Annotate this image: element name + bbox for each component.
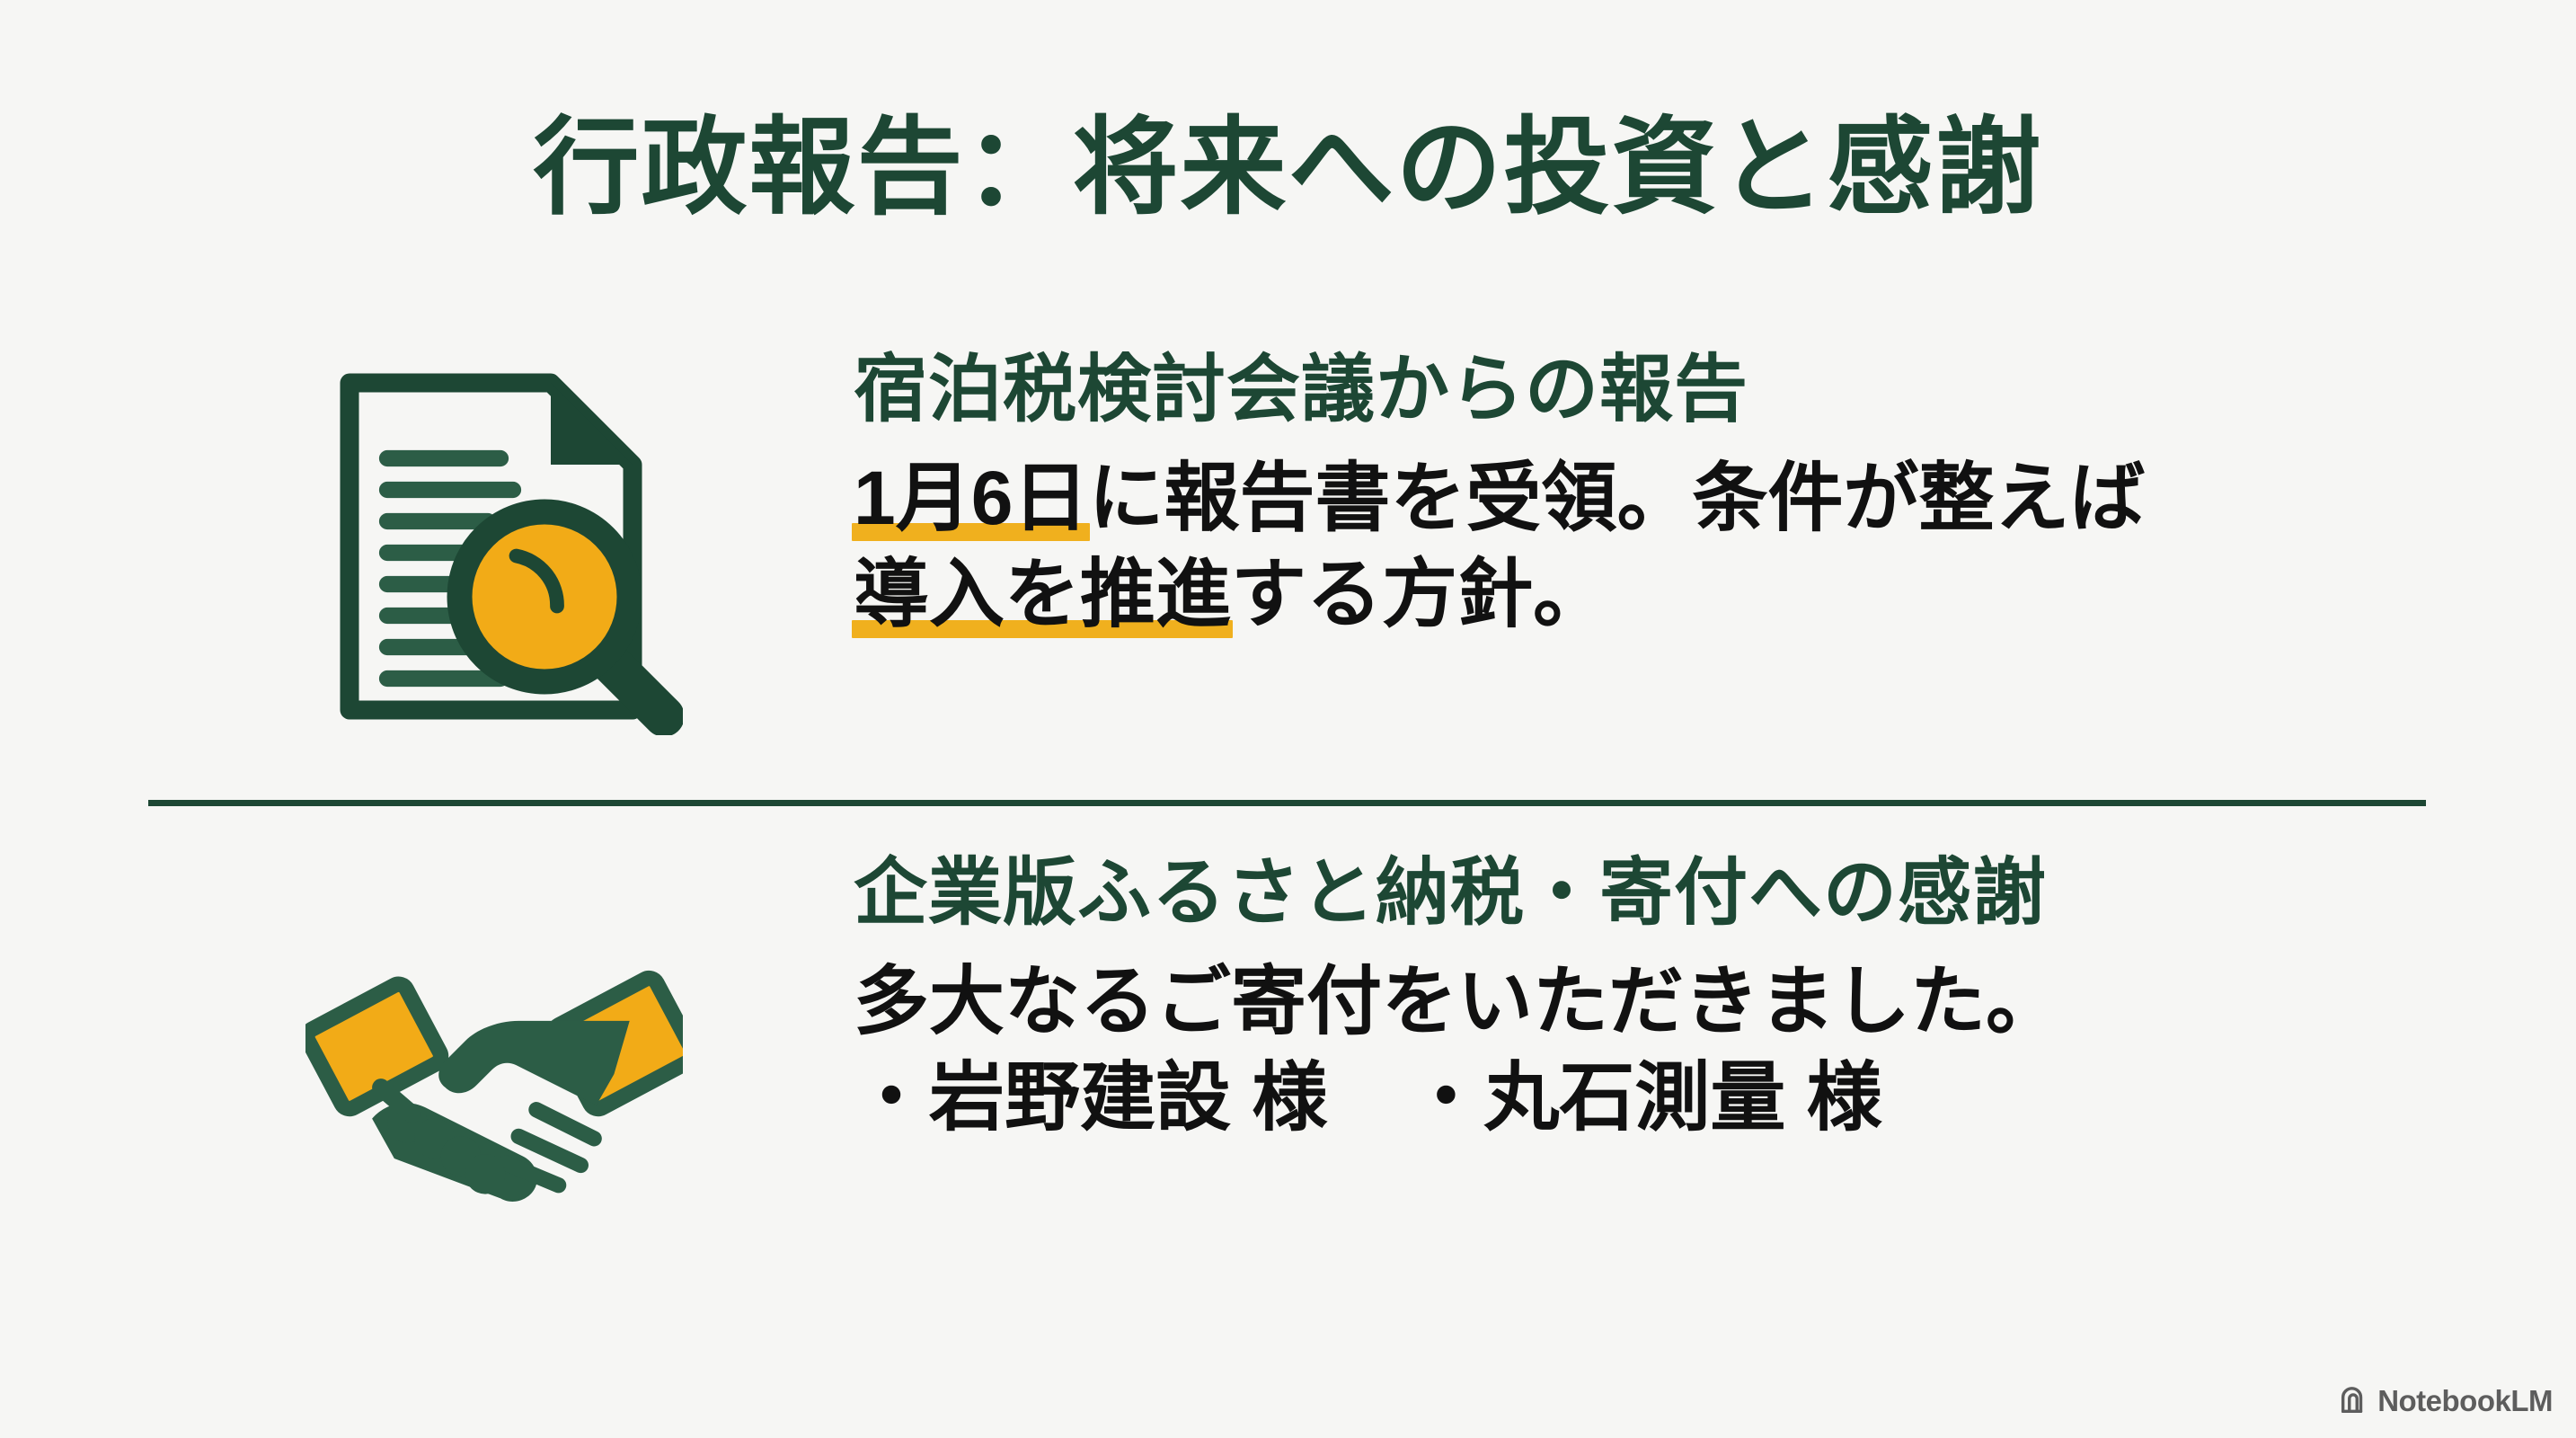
report-body-line-2: 導入を推進する方針。: [854, 546, 2471, 644]
report-body-line-1: 1月6日に報告書を受領。条件が整えば: [854, 450, 2471, 547]
text-cell-report: 宿泊税検討会議からの報告 1月6日に報告書を受領。条件が整えば 導入を推進する方…: [854, 342, 2471, 644]
icon-cell-report: [135, 342, 854, 740]
section-heading-report: 宿泊税検討会議からの報告: [854, 347, 2471, 434]
donation-body-line-1: 多大なるご寄付をいただきました。: [854, 954, 2471, 1051]
slide-canvas: 行政報告：将来への投資と感謝: [0, 0, 2576, 1438]
section-corporate-donation: 企業版ふるさと納税・寄付への感謝 多大なるご寄付をいただきました。 ・岩野建設 …: [135, 845, 2471, 1227]
report-body-line-2-rest: する方針。: [1231, 552, 1608, 636]
notebooklm-spiral-icon: [2338, 1386, 2368, 1416]
section-hotel-tax-report: 宿泊税検討会議からの報告 1月6日に報告書を受領。条件が整えば 導入を推進する方…: [135, 342, 2471, 740]
donor-item-2: ・丸石測量 様: [1408, 1055, 1881, 1140]
notebooklm-label: NotebookLM: [2377, 1384, 2553, 1418]
section-divider: [148, 800, 2426, 806]
donor-item-1: ・岩野建設 様: [854, 1055, 1327, 1140]
icon-cell-donation: [135, 845, 854, 1227]
report-body-line-1-rest: に報告書を受領。条件が整えば: [1088, 456, 2145, 540]
page-title: 行政報告：将来への投資と感謝: [0, 108, 2576, 230]
section-body-report: 1月6日に報告書を受領。条件が整えば 導入を推進する方針。: [854, 450, 2471, 644]
document-magnifier-icon: [305, 358, 683, 740]
notebooklm-watermark: NotebookLM: [2338, 1384, 2553, 1418]
highlight-promote-introduction: 導入を推進: [854, 546, 1231, 644]
handshake-icon: [305, 953, 683, 1227]
section-body-donation: 多大なるご寄付をいただきました。 ・岩野建設 様・丸石測量 様: [854, 954, 2471, 1147]
donor-list: ・岩野建設 様・丸石測量 様: [854, 1050, 2471, 1147]
text-cell-donation: 企業版ふるさと納税・寄付への感謝 多大なるご寄付をいただきました。 ・岩野建設 …: [854, 845, 2471, 1147]
highlight-date: 1月6日: [854, 450, 1088, 547]
section-heading-donation: 企業版ふるさと納税・寄付への感謝: [854, 850, 2471, 937]
